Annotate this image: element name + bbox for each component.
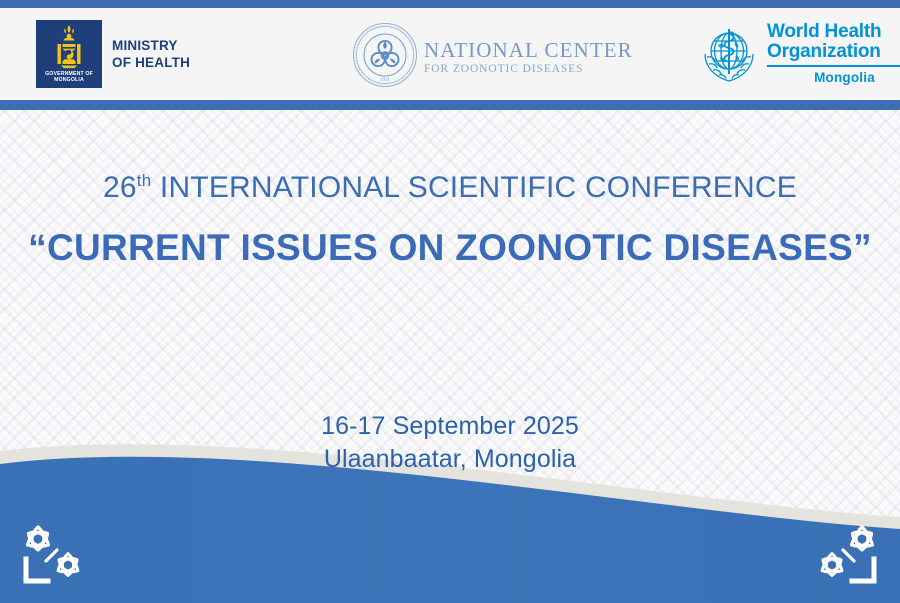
crest-caption-line2: MONGOLIA (36, 77, 102, 84)
event-location: Ulaanbaatar, Mongolia (0, 443, 900, 476)
biohazard-seal-icon: 1931 (352, 22, 418, 93)
header-separator-rule (0, 100, 900, 110)
crest-caption: GOVERNMENT OF MONGOLIA (36, 71, 102, 84)
crest-caption-line1: GOVERNMENT OF (36, 71, 102, 78)
conference-number: 26 (103, 171, 137, 204)
conference-subtitle: “CURRENT ISSUES ON ZOONOTIC DISEASES” (0, 222, 900, 274)
who-wordmark: World Health Organization Mongolia (767, 22, 900, 85)
national-center-zoonotic-diseases-logo: 1931 NATIONAL CENTER FOR ZOONOTIC DISEAS… (352, 22, 633, 93)
national-center-name-line2: FOR ZOONOTIC DISEASES (424, 64, 633, 76)
triquetra-knot-ornament-right (802, 517, 884, 593)
mongolia-state-emblem-icon (36, 23, 102, 69)
who-country-label: Mongolia (767, 70, 900, 85)
conference-ordinal-suffix: th (137, 171, 152, 190)
ministry-name-line2: OF HEALTH (112, 54, 190, 71)
title-block: 26th INTERNATIONAL SCIENTIFIC CONFERENCE… (0, 168, 900, 274)
ministry-of-health-logo: GOVERNMENT OF MONGOLIA MINISTRY OF HEALT… (36, 20, 190, 88)
top-accent-rule (0, 0, 900, 8)
ministry-name: MINISTRY OF HEALTH (112, 37, 190, 71)
seal-year: 1931 (380, 78, 391, 83)
mongolia-state-emblem-crest: GOVERNMENT OF MONGOLIA (36, 20, 102, 88)
national-center-name-line1: NATIONAL CENTER (424, 40, 633, 61)
event-details-block: 16-17 September 2025 Ulaanbaatar, Mongol… (0, 410, 900, 476)
who-emblem-icon (698, 22, 760, 91)
national-center-name: NATIONAL CENTER FOR ZOONOTIC DISEASES (424, 40, 633, 76)
who-name-line1: World Health (767, 22, 900, 42)
ministry-name-line1: MINISTRY (112, 37, 190, 54)
who-underline-rule (767, 65, 900, 67)
who-mongolia-logo: World Health Organization Mongolia (698, 22, 900, 91)
triquetra-knot-ornament-left (16, 517, 98, 593)
who-name-line2: Organization (767, 42, 900, 62)
conference-title: 26th INTERNATIONAL SCIENTIFIC CONFERENCE (0, 168, 900, 208)
conference-title-slide: GOVERNMENT OF MONGOLIA MINISTRY OF HEALT… (0, 0, 900, 603)
conference-title-text: INTERNATIONAL SCIENTIFIC CONFERENCE (151, 171, 797, 204)
event-date: 16-17 September 2025 (0, 410, 900, 443)
